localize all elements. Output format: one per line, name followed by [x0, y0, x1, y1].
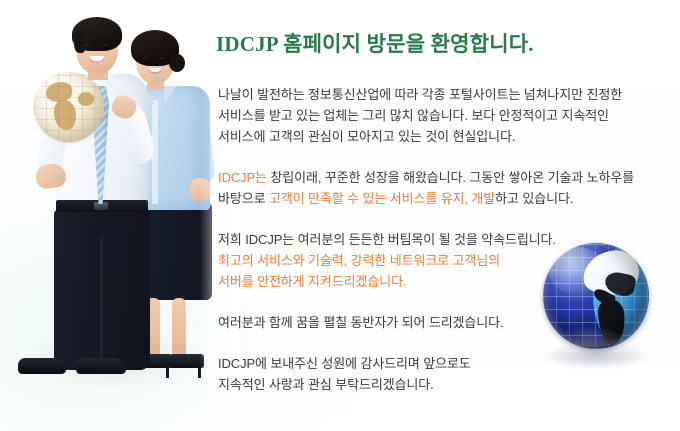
text-line: 서비스를 받고 있는 업체는 그리 많치 않습니다. 보다 안정적이고 지속적인 [218, 105, 670, 126]
paragraph-growth: IDCJP는 창립이래, 꾸준한 성장을 해왔습니다. 그동안 쌓아온 기술과 … [218, 167, 670, 209]
people-photo [0, 0, 218, 400]
man-trousers [54, 210, 150, 370]
page-title: IDCJP 홈페이지 방문을 환영합니다. [216, 28, 534, 58]
highlighted-text: 서버를 안전하게 지켜드리겠습니다. [218, 274, 406, 289]
body-text-run: 저희 IDCJP는 여러분의 든든한 버팀목이 될 것을 약속드립니다. [218, 232, 556, 247]
text-line: 서비스에 고객의 관심이 모아지고 있는 것이 현실입니다. [218, 126, 670, 147]
man-left-shoe [18, 358, 66, 374]
woman-right-eye [160, 57, 165, 59]
vintage-globe-prop [34, 72, 104, 142]
man-right-eye [103, 44, 108, 46]
welcome-page: IDCJP 홈페이지 방문을 환영합니다. 나날이 발전하는 정보통신산업에 따… [0, 0, 680, 431]
globe-sphere [543, 243, 649, 349]
woman-right-heel [166, 354, 204, 368]
body-text-run: 창립이래, 꾸준한 성장을 해왔습니다. 그동안 쌓아온 기술과 노하우를 [267, 170, 634, 185]
body-text-run: 지속적인 사랑과 관심 부탁드리겠습니다. [218, 377, 434, 392]
body-text-run: 서비스에 고객의 관심이 모아지고 있는 것이 현실입니다. [218, 129, 515, 144]
text-line: 바탕으로 고객이 만족할 수 있는 서비스를 유지, 개발하고 있습니다. [218, 188, 670, 209]
woman-left-eye [143, 57, 148, 59]
body-text-run: IDCJP에 보내주신 성원에 감사드리며 앞으로도 [218, 356, 471, 371]
text-line: 나날이 발전하는 정보통신산업에 따라 각종 포털사이트는 넘쳐나지만 진정한 [218, 84, 670, 105]
man-collar-right [106, 74, 120, 94]
woman-hair-bun [169, 54, 185, 72]
paragraph-intro: 나날이 발전하는 정보통신산업에 따라 각종 포털사이트는 넘쳐나지만 진정한서… [218, 84, 670, 147]
woman-right-leg [172, 298, 186, 360]
body-text-run: 나날이 발전하는 정보통신산업에 따라 각종 포털사이트는 넘쳐나지만 진정한 [218, 87, 622, 102]
highlighted-text: 고객이 만족할 수 있는 서비스를 유지, 개발 [269, 191, 495, 206]
body-text-run: 하고 있습니다. [495, 191, 573, 206]
man-left-eye [84, 44, 89, 46]
text-line: 지속적인 사랑과 관심 부탁드리겠습니다. [218, 374, 670, 395]
highlighted-text: 최고의 서비스와 기술력, 강력한 네트워크로 고객님의 [218, 253, 500, 268]
man-right-shoe [76, 358, 126, 374]
body-text-run: 바탕으로 [218, 191, 269, 206]
highlighted-text: IDCJP는 [218, 170, 267, 185]
globe-prop-meridians [34, 72, 104, 142]
text-line: IDCJP는 창립이래, 꾸준한 성장을 해왔습니다. 그동안 쌓아온 기술과 … [218, 167, 670, 188]
woman-right-hand [190, 178, 210, 202]
globe-rim-shading [543, 243, 649, 349]
blue-globe-graphic [540, 243, 652, 371]
man-hair [72, 17, 122, 51]
body-text-run: 여러분과 함께 꿈을 펼칠 동반자가 되어 드리겠습니다. [218, 315, 504, 330]
body-text-run: 서비스를 받고 있는 업체는 그리 많치 않습니다. 보다 안정적이고 지속적인 [218, 108, 609, 123]
woman-collar-right [164, 86, 177, 104]
